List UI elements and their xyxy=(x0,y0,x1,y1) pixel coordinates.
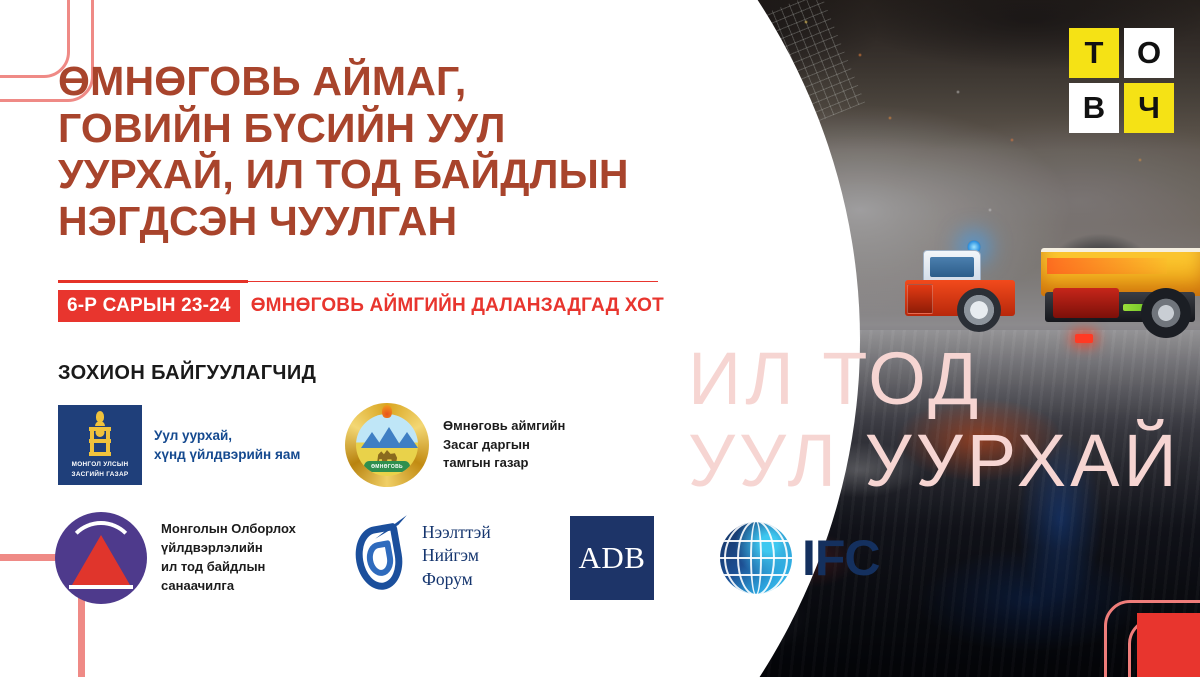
tovch-cell-ch: Ч xyxy=(1124,83,1174,133)
logo-open-society-forum: Нээлттэй Нийгэм Форум xyxy=(350,518,491,594)
tovch-cell-t: Т xyxy=(1069,28,1119,78)
seal-inner-scene: ӨМНӨГОВЬ xyxy=(356,414,418,476)
ifc-globe-icon xyxy=(720,522,792,594)
seal-flame-icon xyxy=(382,405,392,418)
logo-umnugovi-governor: ӨМНӨГОВЬ Өмнөговь аймгийн Засаг даргын т… xyxy=(345,403,565,487)
page-title: ӨМНӨГОВЬ АЙМАГ, ГОВИЙН БҮСИЙН УУЛ УУРХАЙ… xyxy=(58,58,658,244)
event-date-badge: 6-Р САРЫН 23-24 xyxy=(58,290,240,322)
ifc-logo-label: IFC xyxy=(802,533,880,583)
eiti-logo-label: Монголын Олборлох үйлдвэрлэлийн ил тод б… xyxy=(161,520,296,595)
umnugovi-logo-label: Өмнөговь аймгийн Засаг даргын тамгын газ… xyxy=(443,417,565,474)
underground-loader-vehicle xyxy=(905,250,1035,328)
loader-side-panel xyxy=(907,284,933,314)
title-divider-accent xyxy=(58,280,248,283)
tray-highlight xyxy=(1047,258,1167,274)
mongolia-government-emblem-icon: МОНГОЛ УЛСЫН ЗАСГИЙН ГАЗАР xyxy=(58,405,142,485)
government-emblem-caption: МОНГОЛ УЛСЫН ЗАСГИЙН ГАЗАР xyxy=(72,460,129,479)
watermark-line-2: УУЛ УУРХАЙ xyxy=(688,418,1181,503)
truck-wheel xyxy=(1141,288,1191,338)
soyombo-disc xyxy=(96,428,105,437)
mountain-shape xyxy=(396,432,418,448)
decorative-red-block xyxy=(1137,613,1200,677)
eiti-mongolia-emblem-icon xyxy=(55,512,147,604)
title-line-4: НЭГДСЭН ЧУУЛГАН xyxy=(58,198,658,245)
umnugovi-aimag-seal-icon: ӨМНӨГОВЬ xyxy=(345,403,429,487)
loader-wheel xyxy=(957,288,1001,332)
ministry-logo-label: Уул уурхай, хүнд үйлдвэрийн яам xyxy=(154,426,300,464)
logo-eiti-mongolia: Монголын Олборлох үйлдвэрлэлийн ил тод б… xyxy=(55,512,296,604)
osf-logo-label: Нээлттэй Нийгэм Форум xyxy=(422,521,491,590)
tovch-brand-badge[interactable]: Т О В Ч xyxy=(1069,28,1174,133)
title-line-3: УУРХАЙ, ИЛ ТОД БАЙДЛЫН xyxy=(58,151,658,198)
organizers-heading: ЗОХИОН БАЙГУУЛАГЧИД xyxy=(58,362,316,385)
soyombo-bar xyxy=(106,429,110,455)
haul-truck xyxy=(1035,248,1200,340)
adb-logo-icon: ADB xyxy=(570,516,654,600)
tovch-cell-v: В xyxy=(1069,83,1119,133)
watermark-line-1: ИЛ ТОД xyxy=(688,336,982,421)
truck-rear-module xyxy=(1053,288,1119,318)
date-venue-row: 6-Р САРЫН 23-24 ӨМНӨГОВЬ АЙМГИЙН ДАЛАНЗА… xyxy=(58,290,664,322)
title-line-1: ӨМНӨГОВЬ АЙМАГ, xyxy=(58,58,658,105)
tail-light xyxy=(1075,334,1093,343)
soyombo-sun-moon xyxy=(95,421,105,426)
eiti-white-cut xyxy=(69,585,133,589)
seal-ribbon-label: ӨМНӨГОВЬ xyxy=(364,461,410,472)
eiti-logo-item: Монголын Олборлох үйлдвэрлэлийн ил тод б… xyxy=(55,512,296,604)
open-society-forum-spiral-icon xyxy=(350,518,412,594)
adb-logo-label: ADB xyxy=(579,540,646,576)
soyombo-icon xyxy=(89,411,111,457)
tovch-cell-o: О xyxy=(1124,28,1174,78)
logo-ministry-mining: МОНГОЛ УЛСЫН ЗАСГИЙН ГАЗАР Уул уурхай, х… xyxy=(58,405,300,485)
eiti-red-triangle xyxy=(72,535,130,585)
logo-ifc: IFC xyxy=(720,522,880,594)
logo-adb: ADB xyxy=(570,516,654,600)
title-line-2: ГОВИЙН БҮСИЙН УУЛ xyxy=(58,105,658,152)
event-venue-label: ӨМНӨГОВЬ АЙМГИЙН ДАЛАНЗАДГАД ХОТ xyxy=(240,290,664,322)
conference-banner: ИЛ ТОД УУЛ УУРХАЙ ӨМНӨГОВЬ АЙМАГ, ГОВИЙН… xyxy=(0,0,1200,677)
ministry-logo-item: МОНГОЛ УЛСЫН ЗАСГИЙН ГАЗАР Уул уурхай, х… xyxy=(58,405,300,485)
umnugovi-logo-item: ӨМНӨГОВЬ Өмнөговь аймгийн Засаг даргын т… xyxy=(345,403,565,487)
globe-longitude xyxy=(750,522,762,594)
soyombo-bar xyxy=(90,429,94,455)
osf-logo-item: Нээлттэй Нийгэм Форум xyxy=(350,518,491,594)
